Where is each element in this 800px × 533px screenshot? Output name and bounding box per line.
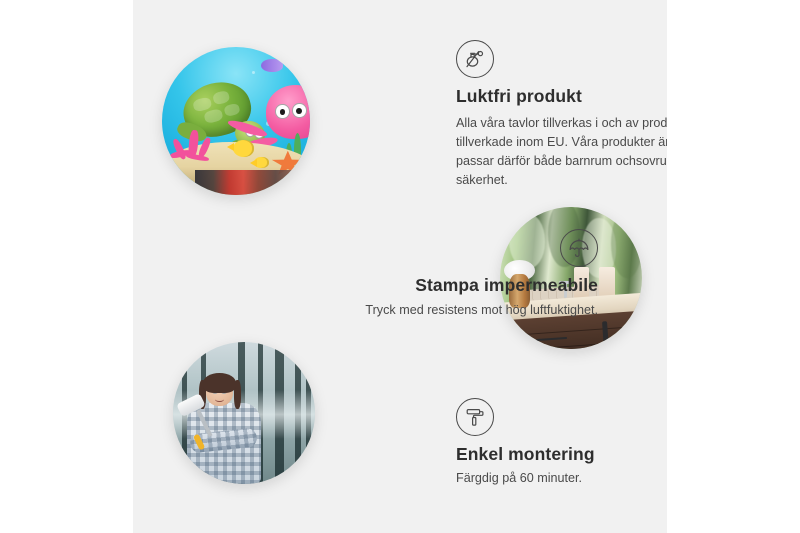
feature-block-odourless: Luktfri produkt Alla våra tavlor tillver… xyxy=(456,40,667,191)
photo-strip xyxy=(195,170,310,195)
feature-title: Luktfri produkt xyxy=(456,86,667,107)
yellow-fish xyxy=(233,140,254,156)
forest-scene xyxy=(173,342,315,484)
leaf-shape xyxy=(611,210,642,278)
paint-roller-icon xyxy=(456,398,494,436)
feature-block-waterproof: Stampa impermeabile Tryck med resistens … xyxy=(293,229,598,320)
smile xyxy=(215,397,224,402)
feature-description: Tryck med resistens mot hög luftfuktighe… xyxy=(293,301,598,320)
content-panel: Luktfri produkt Alla våra tavlor tillver… xyxy=(133,0,667,533)
feature-image-easy-install xyxy=(173,342,315,484)
purple-fish xyxy=(261,59,283,72)
feature-description: Alla våra tavlor tillverkas i och av pro… xyxy=(456,114,667,191)
feature-description: Färgdig på 60 minuter. xyxy=(456,469,667,488)
feature-title: Enkel montering xyxy=(456,444,667,465)
feature-block-easy-install: Enkel montering Färgdig på 60 minuter. xyxy=(456,398,667,488)
octopus-body xyxy=(266,85,310,138)
feature-title: Stampa impermeabile xyxy=(293,275,598,296)
umbrella-icon xyxy=(560,229,598,267)
underwater-scene xyxy=(162,47,310,195)
person xyxy=(182,373,270,484)
screenshot-root: Luktfri produkt Alla våra tavlor tillver… xyxy=(0,0,800,533)
no-spray-bottle-icon xyxy=(456,40,494,78)
hair-top xyxy=(203,373,236,393)
feature-image-odourless xyxy=(162,47,310,195)
bubble-dot xyxy=(252,71,255,74)
